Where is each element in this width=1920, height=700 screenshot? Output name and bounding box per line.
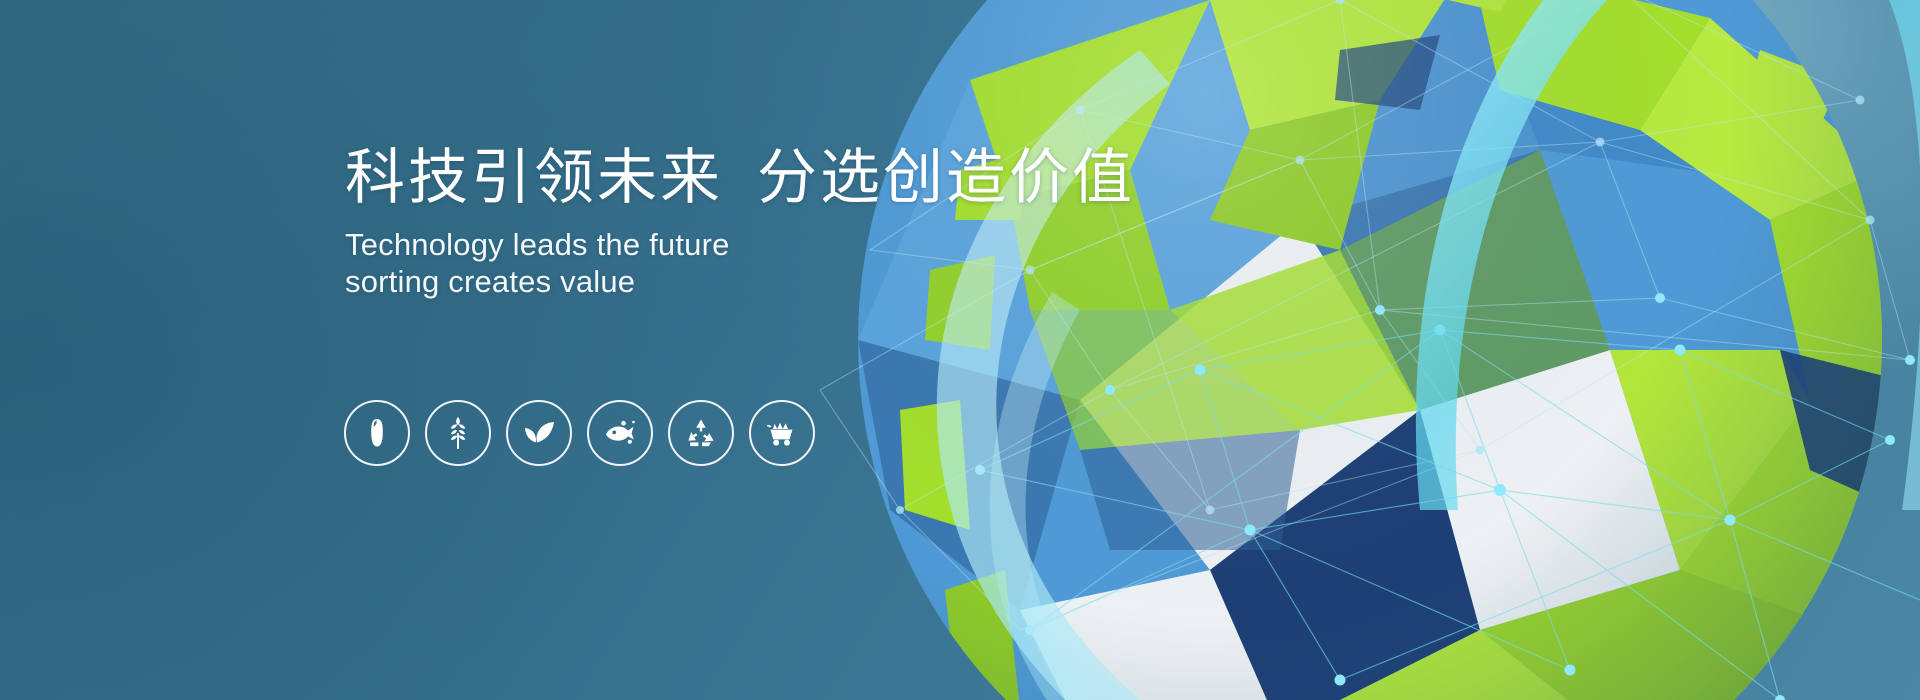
- industry-icon-row: [344, 400, 815, 466]
- banner-copy: 科技引领未来分选创造价值 Technology leads the future…: [345, 148, 1165, 301]
- subtitle-line-2: sorting creates value: [345, 264, 1165, 301]
- page-title: 科技引领未来分选创造价值: [345, 148, 1165, 208]
- wheat-icon[interactable]: [425, 400, 491, 466]
- background-left-vignette: [0, 0, 1920, 700]
- banner-subtitle: Technology leads the future sorting crea…: [345, 227, 1165, 301]
- rice-grain-icon[interactable]: [344, 400, 410, 466]
- headline-part-2: 分选创造价值: [757, 144, 1135, 211]
- leaves-icon[interactable]: [506, 400, 572, 466]
- headline-part-1: 科技引领未来: [345, 144, 723, 211]
- fish-icon[interactable]: [587, 400, 653, 466]
- hero-banner: 科技引领未来分选创造价值 Technology leads the future…: [0, 0, 1920, 700]
- subtitle-line-1: Technology leads the future: [345, 227, 1165, 264]
- mining-cart-icon[interactable]: [749, 400, 815, 466]
- recycle-icon[interactable]: [668, 400, 734, 466]
